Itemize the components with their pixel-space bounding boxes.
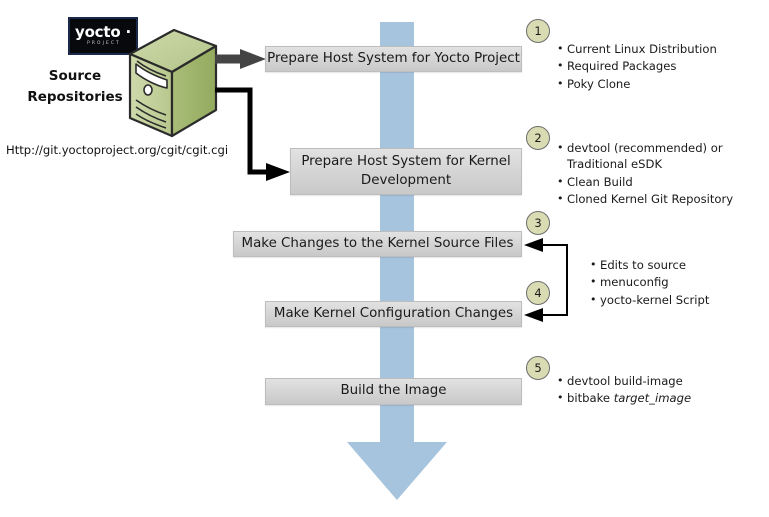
step-2-number-text: 2 [534, 131, 541, 145]
steps-3-4-shared-notes: Edits to source menuconfig yocto-kernel … [587, 257, 757, 309]
step-2-box[interactable]: Prepare Host System for Kernel Developme… [290, 148, 522, 195]
step-2-box-label: Prepare Host System for Kernel Developme… [291, 153, 521, 189]
step-4-box[interactable]: Make Kernel Configuration Changes [265, 301, 522, 327]
steps-3-4-notes-list: Edits to source menuconfig yocto-kernel … [587, 257, 757, 308]
step-1-notes: Current Linux Distribution Required Pack… [554, 41, 754, 93]
step-3-number: 3 [526, 211, 550, 235]
list-item: yocto-kernel Script [600, 292, 757, 308]
step-4-number: 4 [526, 281, 550, 305]
step-2-number: 2 [526, 126, 550, 150]
list-item: devtool (recommended) or Traditional eSD… [567, 140, 759, 173]
source-repositories-url: Http://git.yoctoproject.org/cgit/cgit.cg… [6, 143, 228, 157]
step-2-notes: devtool (recommended) or Traditional eSD… [554, 140, 759, 209]
step-1-box[interactable]: Prepare Host System for Yocto Project [265, 46, 522, 72]
step-3-box-label: Make Changes to the Kernel Source Files [242, 235, 514, 253]
yocto-logo-subtext: PROJECT [85, 42, 121, 46]
step-5-number-text: 5 [534, 361, 541, 375]
step-5-box[interactable]: Build the Image [265, 378, 522, 405]
list-item: Cloned Kernel Git Repository [567, 191, 759, 207]
step-1-number-text: 1 [534, 24, 541, 38]
list-item: bitbake target_image [567, 390, 754, 406]
step-5-number: 5 [526, 356, 550, 380]
step-2-notes-list: devtool (recommended) or Traditional eSD… [554, 140, 759, 208]
diagram-canvas: yocto · PROJECT Source Repositories Http… [0, 0, 769, 517]
server-tower-icon [126, 28, 218, 140]
list-item: menuconfig [600, 274, 757, 290]
step-5-box-label: Build the Image [340, 382, 446, 400]
list-item: Required Packages [567, 58, 754, 74]
step-1-box-label: Prepare Host System for Yocto Project [267, 50, 520, 68]
list-item: devtool build-image [567, 373, 754, 389]
yocto-logo-wordmark: yocto · [75, 25, 131, 40]
step-1-notes-list: Current Linux Distribution Required Pack… [554, 41, 754, 92]
list-item: Current Linux Distribution [567, 41, 754, 57]
list-item: Edits to source [600, 257, 757, 273]
step-5-notes-list: devtool build-image bitbake target_image [554, 373, 754, 407]
source-repositories-label: Source Repositories [14, 66, 136, 108]
step-1-number: 1 [526, 19, 550, 43]
step-3-box[interactable]: Make Changes to the Kernel Source Files [233, 231, 522, 257]
step-5-notes: devtool build-image bitbake target_image [554, 373, 754, 408]
list-item: Poky Clone [567, 76, 754, 92]
step-3-number-text: 3 [534, 216, 541, 230]
step-4-number-text: 4 [534, 286, 541, 300]
list-item: Clean Build [567, 174, 759, 190]
step-4-box-label: Make Kernel Configuration Changes [274, 305, 513, 323]
